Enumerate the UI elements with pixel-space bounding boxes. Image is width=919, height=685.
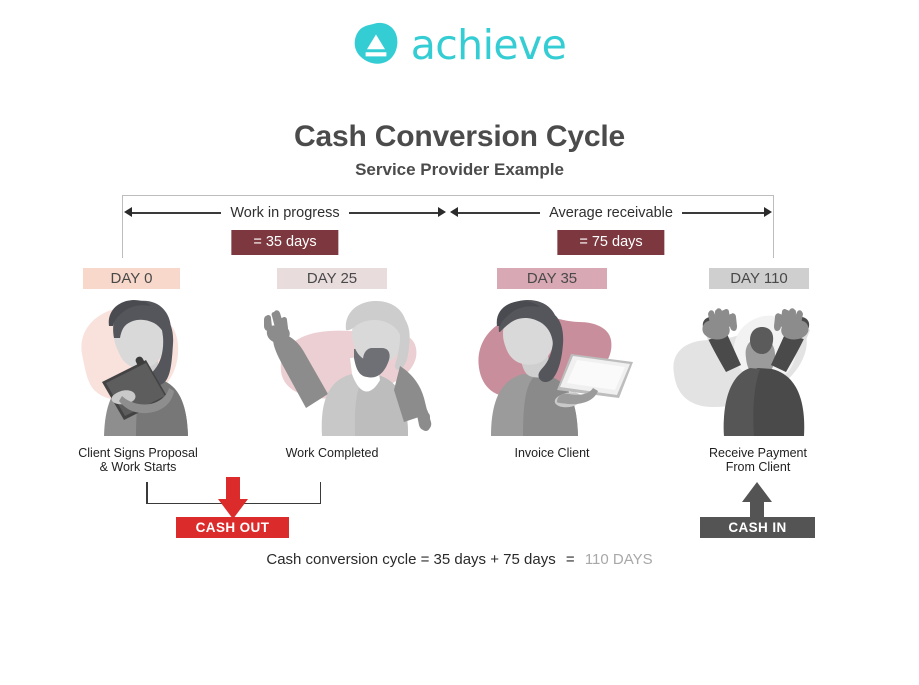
formula-line: Cash conversion cycle = 35 days + 75 day… <box>0 551 919 568</box>
day-chip-day-25: DAY 25 <box>277 268 387 289</box>
brand-name: achieve <box>411 25 567 66</box>
page-title: Cash Conversion Cycle <box>0 120 919 154</box>
caption-line-1: Receive Payment <box>653 446 863 460</box>
arrow-down-icon <box>214 477 252 519</box>
caption-line-2: From Client <box>653 460 863 474</box>
day-chip-day-0: DAY 0 <box>83 268 180 289</box>
span-average-receivable: Average receivable = 75 days <box>448 203 774 261</box>
day-chip-day-35: DAY 35 <box>497 268 607 289</box>
formula-result: 110 DAYS <box>585 551 653 568</box>
day-chip-day-110: DAY 110 <box>709 268 809 289</box>
person-arm-raised-illustration <box>260 296 435 436</box>
cash-in-badge: CASH IN <box>700 517 815 538</box>
caption-line-1: Client Signs Proposal <box>33 446 243 460</box>
span-label-work-in-progress: Work in progress <box>122 203 448 223</box>
caption-line-1: Invoice Client <box>447 446 657 460</box>
span-label-text: Work in progress <box>221 205 348 221</box>
caption-line-2: & Work Starts <box>33 460 243 474</box>
formula-expression: Cash conversion cycle = 35 days + 75 day… <box>266 551 555 568</box>
caption-work-completed: Work Completed <box>227 446 437 460</box>
caption-invoice-client: Invoice Client <box>447 446 657 460</box>
bracket-left-tick <box>146 482 148 504</box>
span-work-in-progress: Work in progress = 35 days <box>122 203 448 261</box>
days-badge-average-receivable: = 75 days <box>557 230 664 255</box>
timeline-span-bracket: Work in progress = 35 days Average recei… <box>122 195 774 261</box>
achieve-blob-triangle-logo-icon <box>353 22 399 68</box>
bracket-top-line <box>122 195 774 196</box>
days-badge-work-in-progress: = 35 days <box>231 230 338 255</box>
page-subtitle: Service Provider Example <box>0 160 919 180</box>
bracket-right-tick <box>320 482 322 504</box>
formula-equals: = <box>566 551 575 568</box>
caption-client-signs-proposal: Client Signs Proposal & Work Starts <box>33 446 243 474</box>
span-row-average-receivable: Average receivable <box>448 203 774 223</box>
caption-receive-payment: Receive Payment From Client <box>653 446 863 474</box>
span-row-work-in-progress: Work in progress <box>122 203 448 223</box>
span-label-average-receivable: Average receivable <box>448 203 774 223</box>
cash-out-badge: CASH OUT <box>176 517 289 538</box>
brand-logo: achieve <box>0 22 919 68</box>
woman-holding-invoice-illustration <box>465 296 640 436</box>
woman-with-clipboard-illustration <box>52 296 227 436</box>
person-arms-raised-celebrating-illustration <box>668 296 843 436</box>
span-label-text: Average receivable <box>540 205 682 221</box>
caption-line-1: Work Completed <box>227 446 437 460</box>
